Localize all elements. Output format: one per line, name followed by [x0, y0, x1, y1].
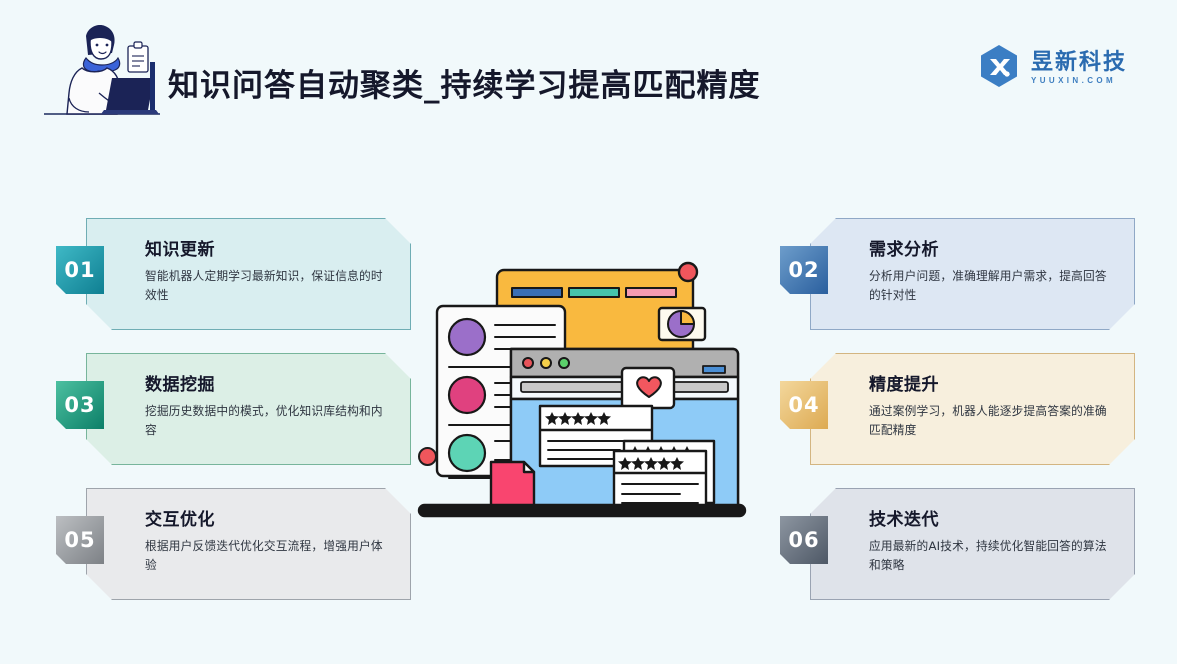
card-number-badge: 03	[56, 381, 104, 429]
card-title: 技术迭代	[869, 505, 1116, 530]
card-description: 分析用户问题，准确理解用户需求，提高回答的针对性	[869, 267, 1116, 305]
card-number-badge: 05	[56, 516, 104, 564]
hexagon-x-logo-icon	[977, 44, 1021, 92]
feature-card[interactable]: 知识更新 智能机器人定期学习最新知识，保证信息的时效性	[86, 218, 411, 330]
card-description: 应用最新的AI技术，持续优化智能回答的算法和策略	[869, 537, 1116, 575]
card-title: 需求分析	[869, 235, 1116, 260]
feature-card[interactable]: 数据挖掘 挖掘历史数据中的模式，优化知识库结构和内容	[86, 353, 411, 465]
page-header: 知识问答自动聚类_持续学习提高匹配精度 昱新科技 YUUXIN.COM	[0, 0, 1177, 150]
brand-name-en: YUUXIN.COM	[1031, 76, 1127, 85]
slide-root: 知识问答自动聚类_持续学习提高匹配精度 昱新科技 YUUXIN.COM 知识更新…	[0, 0, 1177, 664]
card-description: 通过案例学习，机器人能逐步提高答案的准确匹配精度	[869, 402, 1116, 440]
card-number-badge: 01	[56, 246, 104, 294]
brand-name-cn: 昱新科技	[1031, 51, 1127, 74]
card-number-badge: 06	[780, 516, 828, 564]
card-number-badge: 04	[780, 381, 828, 429]
feature-card[interactable]: 交互优化 根据用户反馈迭代优化交互流程，增强用户体验	[86, 488, 411, 600]
brand-logo: 昱新科技 YUUXIN.COM	[977, 44, 1127, 92]
feature-card[interactable]: 需求分析 分析用户问题，准确理解用户需求，提高回答的针对性	[810, 218, 1135, 330]
dashboard-reviews-illustration	[415, 250, 765, 535]
feature-card[interactable]: 精度提升 通过案例学习，机器人能逐步提高答案的准确匹配精度	[810, 353, 1135, 465]
card-title: 交互优化	[145, 505, 392, 530]
card-description: 挖掘历史数据中的模式，优化知识库结构和内容	[145, 402, 392, 440]
card-number-badge: 02	[780, 246, 828, 294]
card-title: 知识更新	[145, 235, 392, 260]
decorative-dot-icon	[418, 447, 437, 466]
page-title: 知识问答自动聚类_持续学习提高匹配精度	[168, 60, 761, 105]
card-title: 数据挖掘	[145, 370, 392, 395]
card-title: 精度提升	[869, 370, 1116, 395]
title-accent-rule	[150, 62, 155, 110]
feature-card[interactable]: 技术迭代 应用最新的AI技术，持续优化智能回答的算法和策略	[810, 488, 1135, 600]
person-with-laptop-illustration	[42, 18, 162, 128]
card-description: 根据用户反馈迭代优化交互流程，增强用户体验	[145, 537, 392, 575]
card-description: 智能机器人定期学习最新知识，保证信息的时效性	[145, 267, 392, 305]
